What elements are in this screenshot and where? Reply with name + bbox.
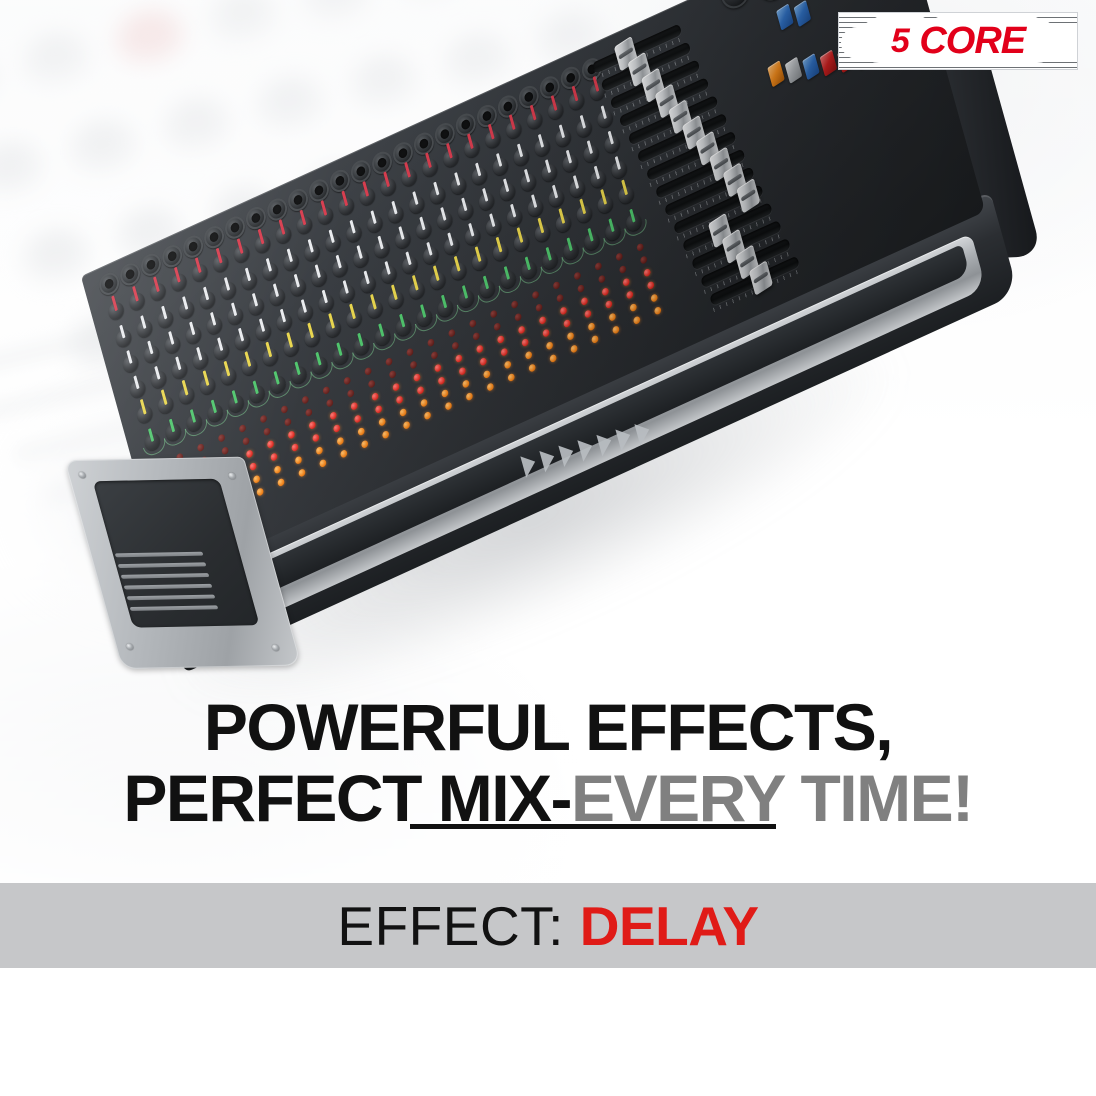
channel-led: [566, 331, 574, 341]
channel-led: [430, 350, 438, 360]
channel-knob: [365, 213, 384, 235]
channel-led: [500, 347, 508, 357]
channel-led: [612, 325, 620, 335]
channel-led: [462, 379, 470, 389]
master-switch: [767, 60, 785, 87]
channel-knob: [491, 155, 510, 177]
channel-knob: [575, 203, 594, 225]
channel-led: [441, 389, 449, 399]
channel-knob: [504, 119, 523, 141]
channel-knob: [275, 311, 294, 333]
channel-knob: [268, 286, 287, 308]
channel-led: [277, 478, 285, 488]
channel-knob: [546, 99, 565, 121]
channel-knob: [184, 324, 203, 346]
channel-led: [340, 449, 348, 459]
channel-led: [221, 446, 229, 456]
channel-led: [378, 417, 386, 427]
channel-led: [479, 357, 487, 367]
channel-led: [570, 344, 578, 354]
channel-knob: [387, 289, 406, 311]
channel-led: [322, 386, 330, 396]
channel-led: [403, 420, 411, 430]
channel-led: [559, 306, 567, 316]
channel-knob: [366, 298, 385, 320]
channel-led: [333, 424, 341, 434]
channel-knob: [561, 152, 580, 174]
channel-knob: [386, 203, 405, 225]
channel-knob: [428, 270, 447, 292]
channel-led: [256, 487, 264, 497]
channel-knob: [393, 228, 412, 250]
channel-led: [406, 347, 414, 357]
channel-led: [336, 436, 344, 446]
channel-led: [504, 360, 512, 370]
channel-led: [451, 341, 459, 351]
endcap-screw: [78, 472, 87, 479]
channel-knob: [442, 147, 461, 169]
channel-led: [472, 331, 480, 341]
channel-knob: [219, 365, 238, 387]
channel-led: [573, 271, 581, 281]
master-switch: [802, 53, 820, 80]
channel-knob: [156, 308, 175, 330]
channel-knob: [337, 195, 356, 217]
channel-knob: [421, 157, 440, 179]
master-switch: [776, 3, 794, 30]
channel-led: [409, 360, 417, 370]
effect-label: EFFECT:: [337, 895, 564, 957]
channel-knob: [142, 343, 161, 365]
channel-led: [312, 433, 320, 443]
channel-led: [385, 357, 393, 367]
channel-knob: [470, 165, 489, 187]
channel-knob: [526, 197, 545, 219]
channel-knob: [512, 231, 531, 253]
channel-led: [357, 427, 365, 437]
channel-led: [294, 455, 302, 465]
channel-knob: [352, 247, 371, 269]
channel-knob: [589, 168, 608, 190]
channel-knob: [296, 301, 315, 323]
channel-led: [347, 389, 355, 399]
channel-led: [315, 446, 323, 456]
channel-led: [301, 395, 309, 405]
channel-knob: [567, 90, 586, 112]
master-switch: [785, 57, 803, 84]
channel-knob: [456, 200, 475, 222]
channel-led: [319, 458, 327, 468]
channel-knob: [156, 394, 175, 416]
endcap-screw: [228, 473, 237, 480]
channel-led: [273, 465, 281, 475]
channel-led: [542, 328, 550, 338]
channel-knob: [190, 262, 209, 284]
channel-led: [469, 319, 477, 329]
headline-line-2: PERFECT MIX-EVERY TIME!: [123, 765, 972, 832]
channel-led: [622, 277, 630, 287]
channel-led: [584, 309, 592, 319]
channel-knob: [483, 128, 502, 150]
channel-knob: [407, 279, 426, 301]
channel-led: [423, 411, 431, 421]
channel-knob: [449, 174, 468, 196]
channel-knob: [198, 375, 217, 397]
channel-led: [601, 287, 609, 297]
channel-led: [238, 424, 246, 434]
channel-led: [448, 328, 456, 338]
channel-led: [437, 376, 445, 386]
channel-led: [298, 468, 306, 478]
channel-knob: [240, 270, 259, 292]
channel-knob: [414, 219, 433, 241]
channel-knob: [169, 271, 188, 293]
channel-led: [392, 382, 400, 392]
channel-knob: [282, 336, 301, 358]
channel-knob: [163, 333, 182, 355]
channel-knob: [107, 300, 126, 322]
channel-led: [217, 433, 225, 443]
channel-led: [552, 281, 560, 291]
channel-knob: [435, 209, 454, 231]
channel-knob: [170, 359, 189, 381]
channel-knob: [198, 289, 217, 311]
channel-knob: [462, 138, 481, 160]
effect-value: DELAY: [580, 895, 759, 957]
channel-knob: [289, 276, 308, 298]
channel-led: [420, 398, 428, 408]
channel-knob: [282, 251, 301, 273]
channel-led: [507, 373, 515, 383]
brand-logo: 5 CORE: [838, 12, 1078, 70]
channel-led: [308, 420, 316, 430]
channel-knob: [505, 206, 524, 228]
channel-knob: [554, 212, 573, 234]
channel-knob: [149, 281, 168, 303]
channel-knob: [135, 318, 154, 340]
channel-led: [521, 338, 529, 348]
channel-knob: [274, 223, 293, 245]
channel-led: [580, 296, 588, 306]
channel-knob: [149, 368, 168, 390]
channel-knob: [372, 238, 391, 260]
channel-knob: [240, 355, 259, 377]
channel-led: [305, 408, 313, 418]
channel-led: [382, 430, 390, 440]
channel-knob: [316, 204, 335, 226]
headline-line-1: POWERFUL EFFECTS,: [0, 694, 1096, 761]
channel-knob: [477, 190, 496, 212]
channel-knob: [519, 171, 538, 193]
channel-led: [525, 350, 533, 360]
channel-led: [465, 392, 473, 402]
channel-led: [329, 411, 337, 421]
channel-knob: [359, 273, 378, 295]
channel-knob: [114, 327, 133, 349]
channel-knob: [324, 317, 343, 339]
channel-led: [514, 312, 522, 322]
channel-led: [280, 405, 288, 415]
channel-led: [259, 414, 267, 424]
channel-knob: [177, 298, 196, 320]
channel-led: [361, 439, 369, 449]
channel-led: [364, 366, 372, 376]
channel-led: [563, 319, 571, 329]
channel-knob: [253, 233, 272, 255]
channel-knob: [233, 330, 252, 352]
channel-knob: [345, 308, 364, 330]
channel-led: [486, 382, 494, 392]
channel-led: [531, 290, 539, 300]
channel-led: [528, 363, 536, 373]
channel-led: [252, 474, 260, 484]
logo-word: CORE: [919, 22, 1025, 60]
master-output-jack: [717, 0, 752, 13]
channel-knob: [254, 321, 273, 343]
channel-led: [444, 401, 452, 411]
channel-knob: [310, 267, 329, 289]
channel-led: [545, 341, 553, 351]
headline-underline: [410, 824, 776, 829]
channel-knob: [554, 127, 573, 149]
channel-knob: [379, 263, 398, 285]
channel-led: [633, 315, 641, 325]
channel-knob: [135, 403, 154, 425]
channel-led: [538, 315, 546, 325]
audio-mixer-console: [81, 0, 1027, 735]
channel-led: [354, 414, 362, 424]
channel-knob: [498, 181, 517, 203]
channel-led: [284, 417, 292, 427]
channel-knob: [407, 194, 426, 216]
channel-knob: [338, 282, 357, 304]
channel-led: [371, 392, 379, 402]
channel-led: [375, 404, 383, 414]
channel-led: [497, 335, 505, 345]
channel-led: [594, 262, 602, 272]
channel-led: [263, 427, 271, 437]
channel-led: [416, 385, 424, 395]
channel-led: [395, 395, 403, 405]
endcap-screw: [271, 644, 280, 651]
channel-led: [615, 252, 623, 262]
channel-led: [598, 274, 606, 284]
channel-led: [350, 401, 358, 411]
channel-led: [510, 300, 518, 310]
channel-knob: [121, 352, 140, 374]
effect-banner-text: EFFECT: DELAY: [337, 894, 758, 958]
channel-knob: [449, 260, 468, 282]
channel-knob: [247, 295, 266, 317]
channel-knob: [533, 136, 552, 158]
channel-led: [388, 370, 396, 380]
channel-led: [266, 439, 274, 449]
channel-knob: [191, 349, 210, 371]
channel-led: [458, 366, 466, 376]
channel-knob: [421, 244, 440, 266]
channel-led: [591, 334, 599, 344]
channel-led: [270, 452, 278, 462]
channel-led: [518, 325, 526, 335]
logo-number: 5: [891, 24, 909, 58]
channel-led: [291, 443, 299, 453]
channel-led: [197, 443, 205, 453]
logo-text: 5 CORE: [839, 13, 1077, 69]
master-switch: [794, 0, 812, 27]
channel-knob: [219, 279, 238, 301]
channel-led: [577, 284, 585, 294]
channel-knob: [303, 241, 322, 263]
channel-led: [326, 398, 334, 408]
channel-knob: [212, 340, 231, 362]
channel-knob: [205, 314, 224, 336]
product-marketing-image: 5 CORE POWERFUL EFFECTS, PERFECT MIX-EVE…: [0, 0, 1096, 1096]
channel-led: [455, 354, 463, 364]
channel-led: [493, 322, 501, 332]
channel-knob: [484, 216, 503, 238]
channel-led: [619, 265, 627, 275]
channel-knob: [428, 184, 447, 206]
channel-led: [343, 376, 351, 386]
channel-led: [490, 309, 498, 319]
channel-led: [242, 436, 250, 446]
channel-knob: [303, 327, 322, 349]
channel-knob: [226, 305, 245, 327]
channel-led: [587, 322, 595, 332]
channel-knob: [568, 177, 587, 199]
channel-knob: [533, 222, 552, 244]
channel-knob: [582, 143, 601, 165]
channel-knob: [400, 254, 419, 276]
headline: POWERFUL EFFECTS, PERFECT MIX-EVERY TIME…: [0, 694, 1096, 833]
channel-led: [249, 462, 257, 472]
channel-led: [608, 312, 616, 322]
channel-led: [287, 430, 295, 440]
channel-knob: [261, 260, 280, 282]
channel-led: [413, 373, 421, 383]
channel-knob: [512, 146, 531, 168]
channel-led: [399, 408, 407, 418]
channel-knob: [344, 222, 363, 244]
channel-led: [629, 303, 637, 313]
master-switch: [820, 49, 838, 76]
channel-knob: [295, 214, 314, 236]
channel-knob: [331, 257, 350, 279]
channel-knob: [128, 378, 147, 400]
channel-knob: [547, 187, 566, 209]
channel-knob: [211, 252, 230, 274]
channel-knob: [442, 235, 461, 257]
channel-knob: [128, 290, 147, 312]
effect-banner: EFFECT: DELAY: [0, 883, 1096, 968]
channel-led: [434, 363, 442, 373]
channel-led: [483, 369, 491, 379]
channel-knob: [358, 185, 377, 207]
channel-led: [556, 293, 564, 303]
channel-knob: [525, 109, 544, 131]
channel-knob: [491, 241, 510, 263]
channel-led: [549, 354, 557, 364]
channel-knob: [232, 242, 251, 264]
channel-knob: [317, 292, 336, 314]
channel-led: [605, 300, 613, 310]
channel-led: [476, 344, 484, 354]
channel-led: [368, 379, 376, 389]
channel-knob: [463, 225, 482, 247]
channel-knob: [596, 193, 615, 215]
channel-knob: [400, 166, 419, 188]
channel-led: [245, 449, 253, 459]
channel-knob: [575, 117, 594, 139]
channel-knob: [379, 176, 398, 198]
channel-knob: [177, 384, 196, 406]
channel-led: [427, 338, 435, 348]
channel-led: [535, 303, 543, 313]
product-image: [0, 0, 1096, 700]
channel-led: [626, 290, 634, 300]
channel-knob: [261, 346, 280, 368]
channel-knob: [324, 232, 343, 254]
channel-knob: [470, 251, 489, 273]
endcap-screw: [125, 643, 134, 650]
channel-knob: [540, 162, 559, 184]
